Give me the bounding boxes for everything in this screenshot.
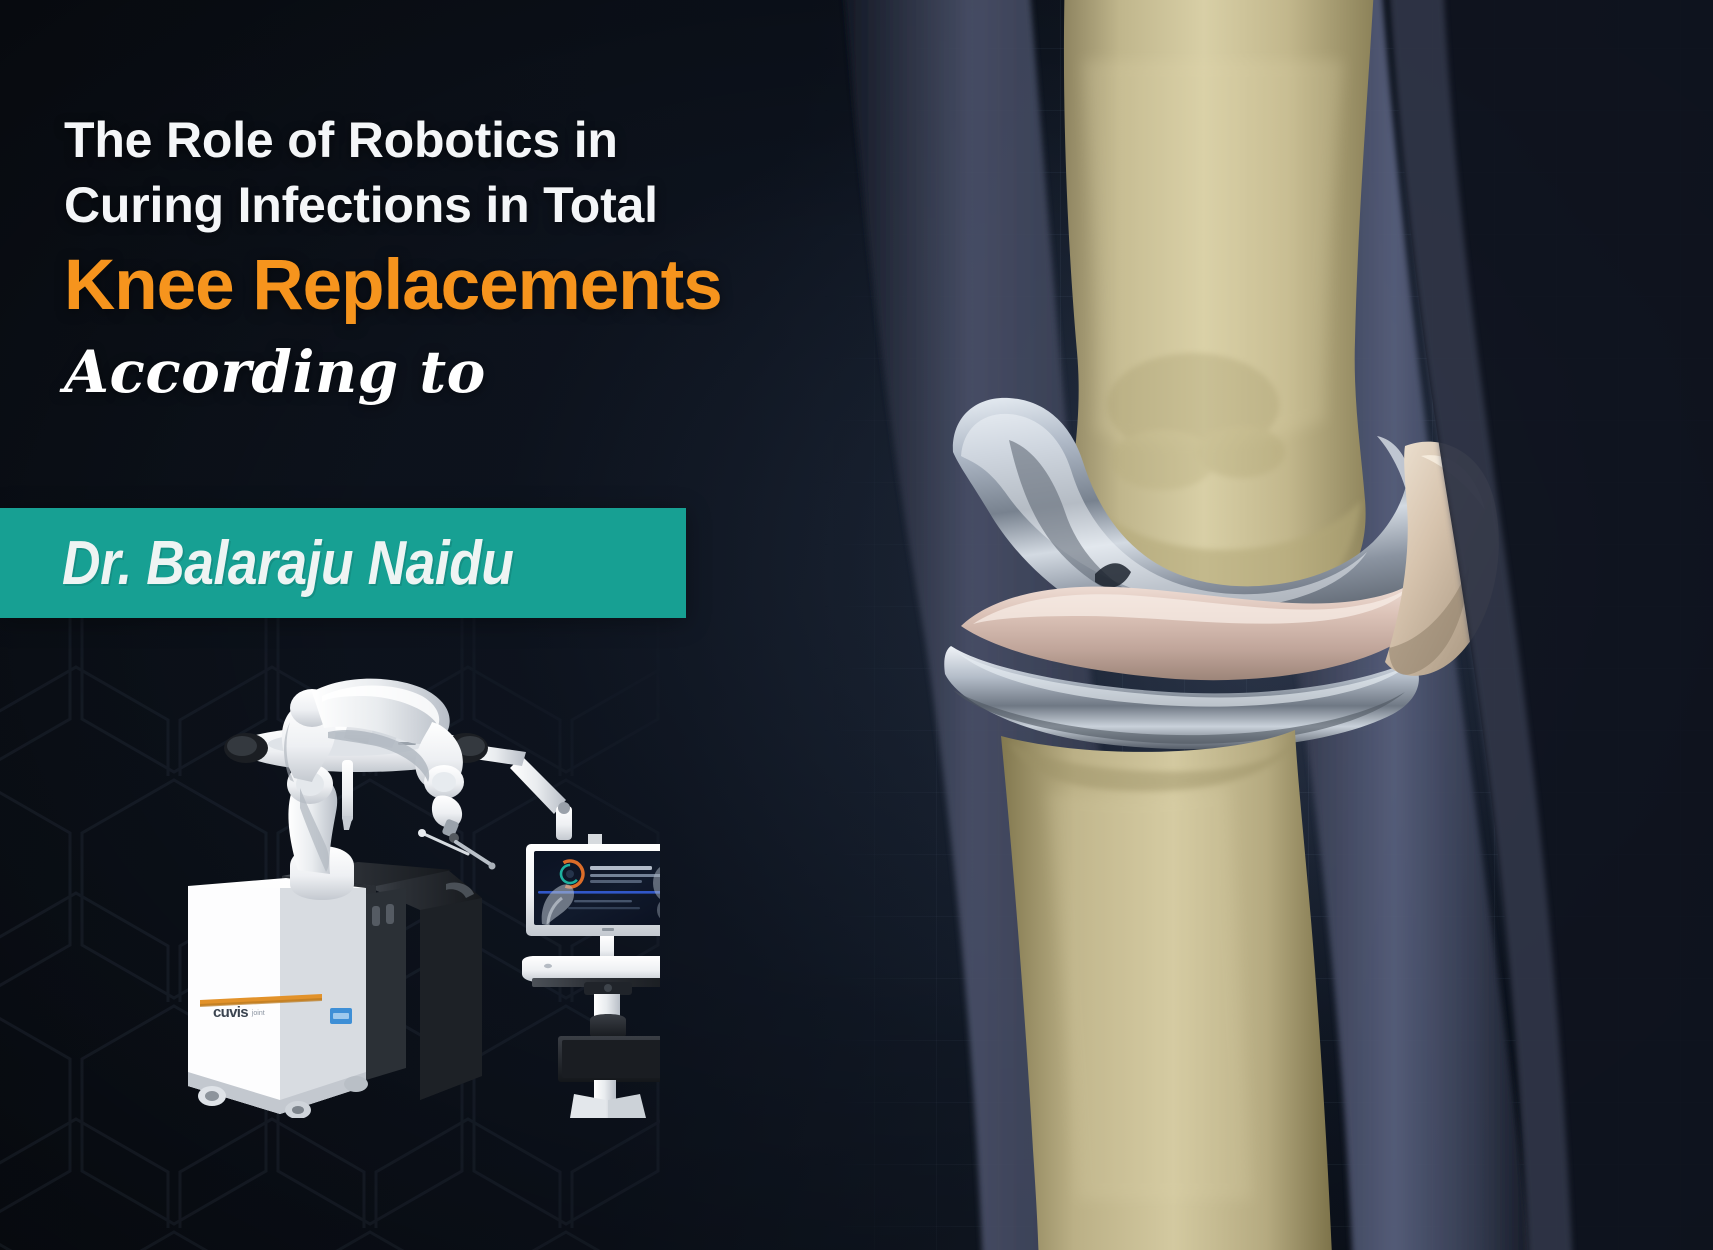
console-cart bbox=[188, 862, 482, 1118]
doctor-name-band: Dr. Balaraju Naidu bbox=[0, 508, 686, 618]
tibia-bone bbox=[1001, 730, 1333, 1250]
headline-script: According to bbox=[64, 338, 924, 406]
banner-root: cuvisjoint The Role of Robotics in Curin… bbox=[0, 0, 1713, 1250]
doctor-name: Dr. Balaraju Naidu bbox=[62, 528, 514, 599]
surgical-end-effector bbox=[418, 795, 496, 869]
headline-block: The Role of Robotics in Curing Infection… bbox=[64, 108, 924, 407]
knee-replacement-anatomy bbox=[833, 0, 1713, 1250]
headline-line-1: The Role of Robotics in bbox=[64, 108, 924, 173]
robotic-surgery-system bbox=[170, 648, 660, 1118]
headline-accent: Knee Replacements bbox=[64, 246, 924, 326]
monitor-cart bbox=[522, 834, 660, 1118]
headline-line-2: Curing Infections in Total bbox=[64, 173, 924, 238]
